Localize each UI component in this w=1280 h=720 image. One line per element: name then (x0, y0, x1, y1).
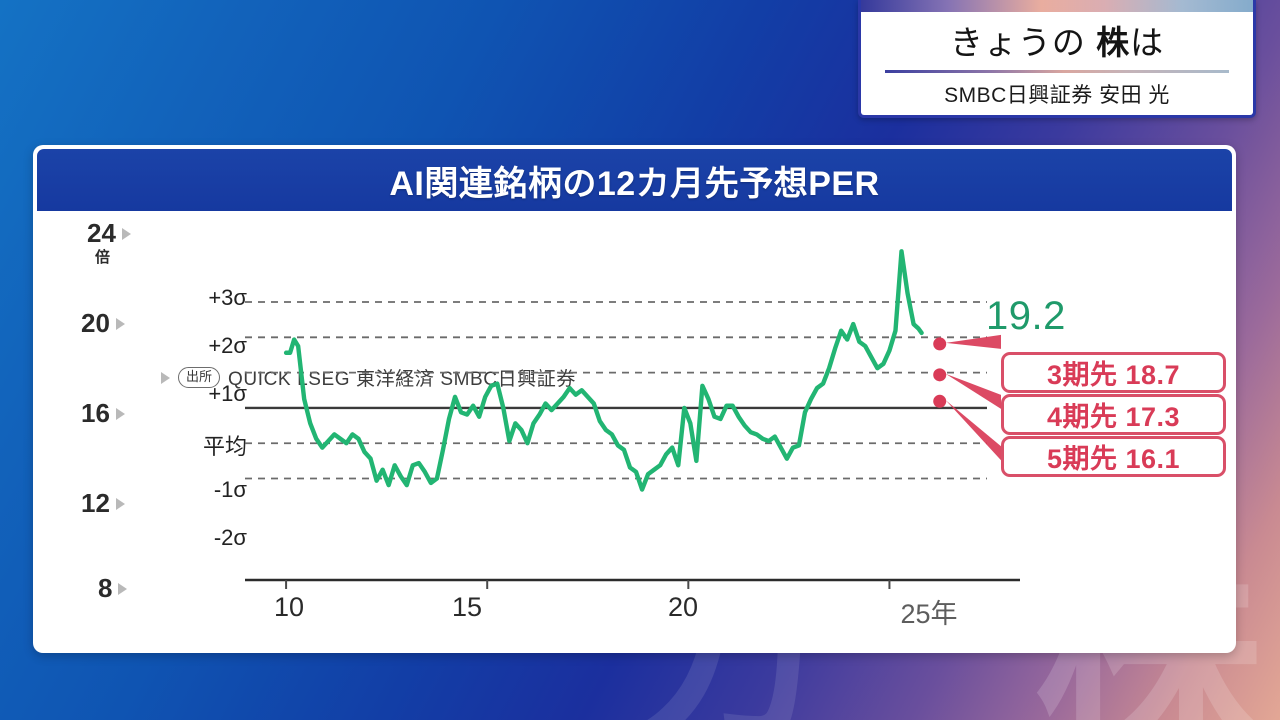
banner-divider (885, 70, 1229, 73)
gridlines (245, 302, 987, 479)
y-axis-label-24: 24 (87, 218, 131, 249)
plot-area (245, 215, 1020, 595)
callout-3-periods-ahead[interactable]: 3期先 18.7 (1001, 352, 1226, 393)
callout-4-periods-ahead[interactable]: 4期先 17.3 (1001, 394, 1226, 435)
chart-card: AI関連銘柄の12カ月先予想PER 出所 QUICK LSEG 東洋経済 SMB… (33, 145, 1236, 653)
per-series-line (286, 251, 922, 489)
y-axis-label-16: 16 (81, 398, 125, 429)
forecast-point-dots (933, 337, 946, 407)
banner-title-prefix: きょうの (950, 24, 1096, 61)
band-label-minus2sigma: -2σ (161, 525, 247, 551)
x-axis-label-10: 10 (274, 592, 304, 623)
callout-leader-lines (946, 335, 1001, 460)
x-axis-label-15: 15 (452, 592, 482, 623)
y-axis-label-8-text: 8 (98, 573, 112, 604)
y-axis-marker-icon (116, 408, 125, 420)
x-axis-label-20: 20 (668, 592, 698, 623)
band-label-plus2sigma: +2σ (161, 333, 247, 359)
y-axis-marker-icon (122, 228, 131, 240)
banner-title: きょうの 株は (861, 16, 1253, 64)
x-axis-label-25: 25年 (900, 592, 957, 631)
y-axis-label-16-text: 16 (81, 398, 110, 429)
plot-svg (245, 215, 1020, 595)
y-axis-label-8: 8 (98, 573, 127, 604)
y-axis-label-20-text: 20 (81, 308, 110, 339)
broadcast-graphic-stage: カ 株 きょうの 株は SMBC日興証券 安田 光 AI関連銘柄の12カ月先予想… (0, 0, 1280, 720)
band-label-plus1sigma: +1σ (161, 381, 247, 407)
banner-gradient-bar (861, 0, 1253, 12)
band-label-minus1sigma: -1σ (161, 477, 247, 503)
band-label-plus3sigma: +3σ (161, 285, 247, 311)
chart-title-bar: AI関連銘柄の12カ月先予想PER (37, 149, 1232, 211)
banner-subtitle: SMBC日興証券 安田 光 (861, 79, 1253, 109)
current-value-label: 19.2 (986, 294, 1066, 339)
y-axis-label-20: 20 (81, 308, 125, 339)
y-axis-label-24-text: 24 (87, 218, 116, 249)
banner-title-suffix: は (1130, 24, 1164, 61)
x-axis-ticks (286, 580, 889, 589)
y-axis-label-12-text: 12 (81, 488, 110, 519)
callout-5-periods-ahead[interactable]: 5期先 16.1 (1001, 436, 1226, 477)
banner-title-keyword: 株 (1096, 24, 1130, 61)
program-banner: きょうの 株は SMBC日興証券 安田 光 (858, 0, 1256, 118)
band-label-mean: 平均 (161, 429, 247, 461)
y-axis-marker-icon (116, 498, 125, 510)
y-axis-marker-icon (118, 583, 127, 595)
y-axis-label-12: 12 (81, 488, 125, 519)
y-axis-unit: 倍 (95, 246, 110, 267)
y-axis-marker-icon (116, 318, 125, 330)
chart-title: AI関連銘柄の12カ月先予想PER (389, 156, 879, 205)
